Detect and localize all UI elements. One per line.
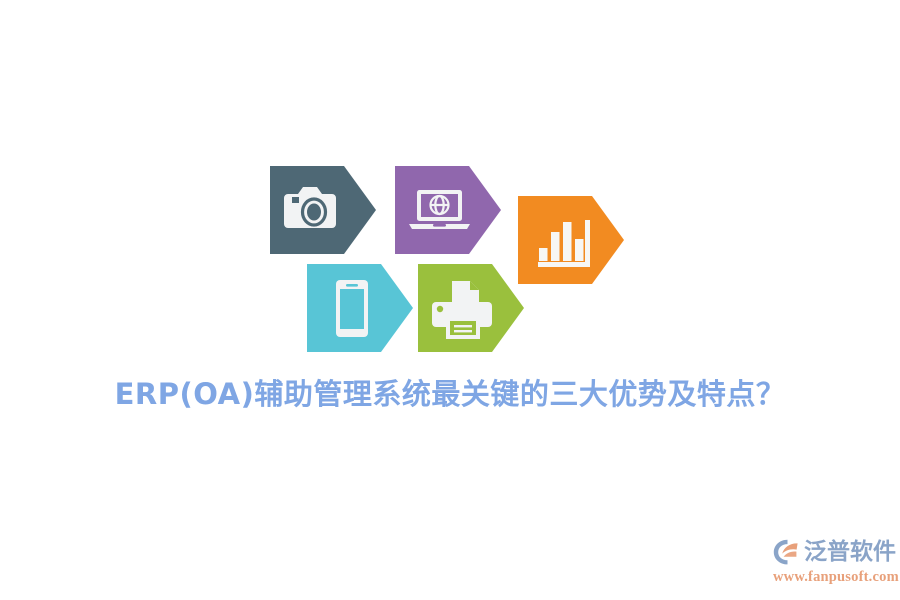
- camera-viewfinder-icon: [292, 197, 299, 203]
- banner-laptop[interactable]: [395, 166, 501, 254]
- watermark-brand-name: 泛普软件: [804, 538, 896, 566]
- banner-arrow-group: [0, 0, 900, 600]
- banner-printer[interactable]: [418, 264, 524, 352]
- banner-camera[interactable]: [270, 166, 376, 254]
- page-title: ERP(OA)辅助管理系统最关键的三大优势及特点？: [0, 374, 900, 414]
- fanpu-logo-icon: [772, 538, 802, 566]
- banner-mobile[interactable]: [307, 264, 413, 352]
- watermark-logo: 泛普软件 www.fanpusoft.com: [772, 536, 892, 588]
- banner-chart[interactable]: [518, 196, 624, 284]
- infographic-canvas: ERP(OA)辅助管理系统最关键的三大优势及特点？ 泛普软件 www.fanpu…: [0, 0, 900, 600]
- watermark-brand-row: 泛普软件: [772, 536, 892, 568]
- smartphone-icon: [336, 280, 368, 337]
- watermark-url: www.fanpusoft.com: [772, 569, 892, 586]
